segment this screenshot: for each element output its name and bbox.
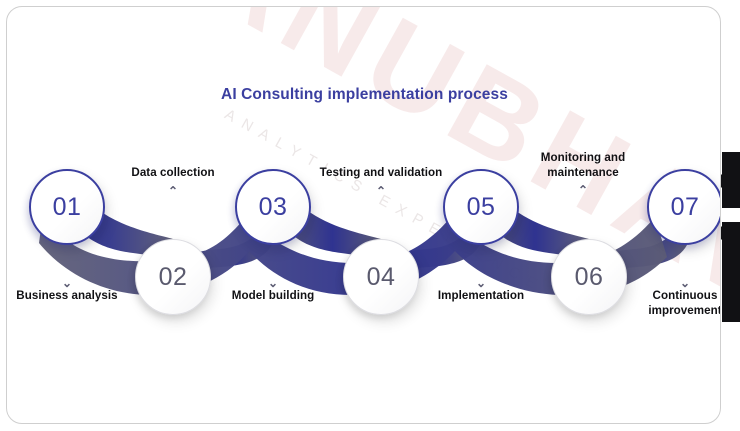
step-label-6-text: Monitoring and maintenance	[541, 151, 625, 179]
edge-tab-lower	[722, 222, 740, 322]
step-label-7: ⌄ Continuous improvement	[619, 275, 721, 318]
step-label-3: ⌄ Model building	[207, 275, 339, 304]
chevron-down-icon: ⌄	[207, 277, 339, 289]
step-label-5-text: Implementation	[438, 289, 524, 302]
step-node-4[interactable]: 04	[343, 239, 419, 315]
screenshot-root: ANUBHAVAM ANALYTICS EXPERIENCE AI Consul…	[0, 0, 740, 431]
chevron-down-icon: ⌄	[6, 277, 133, 289]
step-node-2[interactable]: 02	[135, 239, 211, 315]
chevron-down-icon: ⌄	[619, 277, 721, 289]
step-node-7[interactable]: 07	[647, 169, 721, 245]
step-label-1: ⌄ Business analysis	[6, 275, 133, 304]
process-diagram: 01 02 03 04 05 06 07 ⌄ Business analysis…	[7, 7, 721, 424]
chevron-down-icon: ⌄	[415, 277, 547, 289]
chevron-up-icon: ⌃	[315, 185, 447, 197]
step-label-5: ⌄ Implementation	[415, 275, 547, 304]
step-node-5[interactable]: 05	[443, 169, 519, 245]
edge-tab-upper	[722, 152, 740, 208]
chevron-up-icon: ⌃	[517, 184, 649, 196]
chevron-up-icon: ⌃	[107, 185, 239, 197]
step-label-1-text: Business analysis	[16, 289, 117, 302]
step-node-6[interactable]: 06	[551, 239, 627, 315]
step-label-3-text: Model building	[232, 289, 315, 302]
connector-ribbon	[7, 7, 721, 424]
step-label-6: Monitoring and maintenance ⌃	[517, 151, 649, 196]
content-card: ANUBHAVAM ANALYTICS EXPERIENCE AI Consul…	[6, 6, 721, 424]
step-label-4: Testing and validation ⌃	[315, 166, 447, 197]
step-node-3[interactable]: 03	[235, 169, 311, 245]
step-label-7-text: Continuous improvement	[648, 289, 721, 317]
step-node-1[interactable]: 01	[29, 169, 105, 245]
step-label-2-text: Data collection	[131, 166, 214, 179]
step-label-4-text: Testing and validation	[320, 166, 443, 179]
step-label-2: Data collection ⌃	[107, 166, 239, 197]
